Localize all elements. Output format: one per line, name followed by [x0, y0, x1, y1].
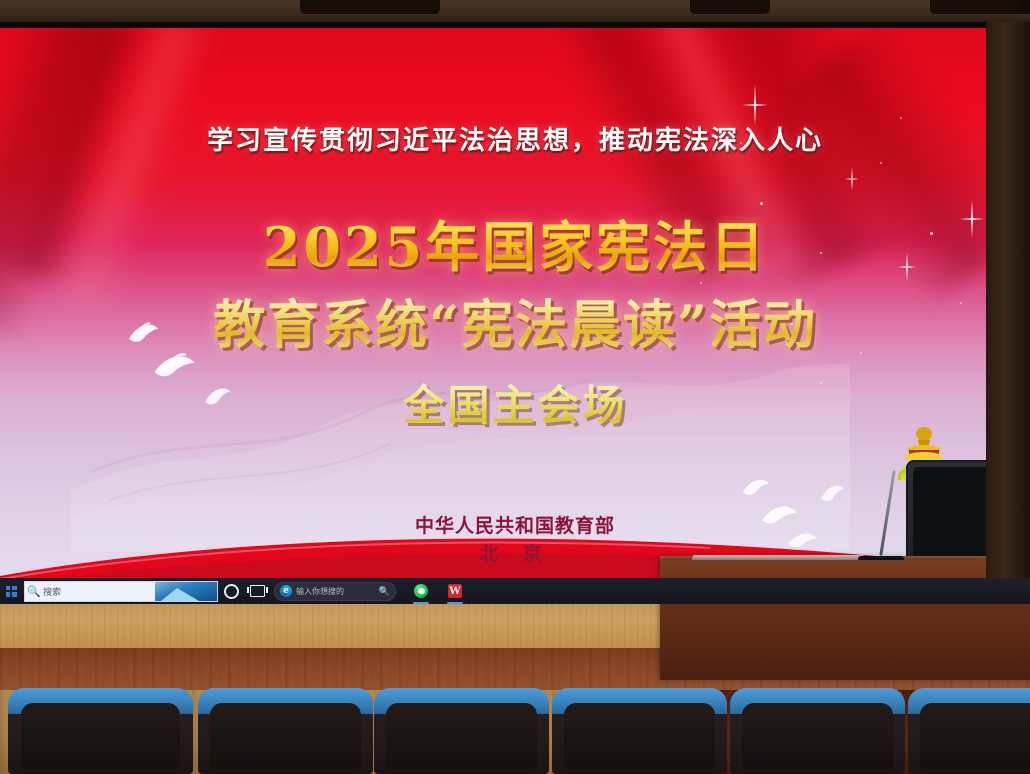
footer-organization: 中华人民共和国教育部	[0, 511, 1030, 538]
title-line-1: 2025年国家宪法日	[0, 203, 1030, 282]
edge-search-bar[interactable]: e 输入你想搜的 🔍	[274, 582, 396, 601]
running-indicator	[447, 602, 463, 604]
right-side-wall	[986, 22, 1030, 582]
title-line-2: 教育系统“宪法晨读”活动	[0, 283, 1030, 358]
task-view-button[interactable]	[244, 578, 270, 604]
search-icon[interactable]: 🔍	[379, 586, 390, 597]
sparkle	[900, 117, 902, 119]
cortana-button[interactable]	[218, 578, 244, 604]
running-indicator	[413, 602, 429, 604]
star-sparkle	[845, 167, 859, 191]
edge-search-placeholder: 输入你想搜的	[296, 586, 375, 597]
audience-chair	[374, 688, 549, 774]
audience-chair	[908, 688, 1030, 774]
sparkle	[880, 162, 882, 164]
audience-chair	[8, 688, 193, 774]
cortana-circle-icon	[224, 584, 239, 599]
taskbar-app-wechat[interactable]	[408, 578, 434, 604]
edge-icon: e	[280, 585, 292, 597]
acoustic-panel	[300, 0, 440, 14]
wechat-icon	[414, 584, 428, 598]
audience-chair	[198, 688, 373, 774]
search-thumbnail	[155, 582, 217, 601]
acoustic-panel	[690, 0, 770, 14]
search-placeholder: 搜索	[43, 585, 61, 598]
audience-chair	[730, 688, 905, 774]
audience-chair	[552, 688, 727, 774]
task-view-icon	[250, 585, 265, 597]
wps-icon: W	[448, 584, 462, 598]
start-button[interactable]	[0, 578, 22, 604]
search-icon: 🔍	[25, 585, 43, 598]
led-stage-screen: 学习宣传贯彻习近平法治思想，推动宪法深入人心 2025年国家宪法日 教育系统“宪…	[0, 22, 1030, 604]
banner-headline: 学习宣传贯彻习近平法治思想，推动宪法深入人心	[0, 120, 1030, 157]
search-input[interactable]: 🔍 搜索	[24, 581, 218, 602]
title-line-3: 全国主会场	[0, 372, 1030, 433]
windows-logo-icon	[6, 586, 17, 597]
acoustic-panel	[930, 0, 1030, 14]
conference-hall-photo: 学习宣传贯彻习近平法治思想，推动宪法深入人心 2025年国家宪法日 教育系统“宪…	[0, 0, 1030, 774]
taskbar-app-wps[interactable]: W	[442, 578, 468, 604]
windows-taskbar[interactable]: 🔍 搜索 e 输入你想搜的 🔍 W	[0, 578, 1030, 604]
screen-bezel	[0, 22, 1030, 28]
